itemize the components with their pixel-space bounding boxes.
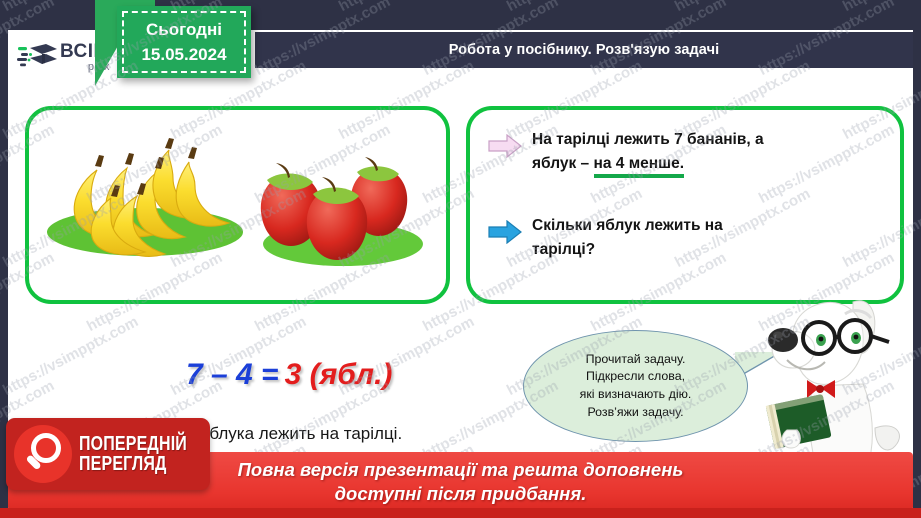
bubble-line-4: Розв’яжи задачу. [587, 404, 683, 422]
speech-bubble: Прочитай задачу. Підкресли слова, які ви… [523, 330, 748, 442]
bubble-line-3: які визначають дію. [580, 386, 692, 404]
preview-badge[interactable]: ПОПЕРЕДНІЙ ПЕРЕГЛЯД [6, 418, 210, 490]
apple-icon [251, 150, 436, 280]
task-1-line1: На тарілці лежить 7 бананів, а [532, 131, 764, 148]
task-text-panel: На тарілці лежить 7 бананів, а яблук – н… [466, 106, 904, 304]
magnifier-icon [14, 425, 72, 483]
bubble-line-1: Прочитай задачу. [586, 351, 686, 369]
apple-group [251, 150, 436, 280]
page-title: Робота у посібнику. Розв'язую задачі [449, 42, 720, 58]
preview-badge-line2: ПЕРЕГЛЯД [79, 454, 187, 474]
equation-right: 3 (ябл.) [285, 358, 393, 391]
task-2-line1: Скільки яблук лежить на [532, 217, 723, 234]
solution-equation: 7 – 4 =3 (ябл.) [186, 358, 392, 392]
banana-group [39, 136, 254, 276]
presentation-slide: Робота у посібнику. Розв'язую задачі ВСІ… [0, 0, 921, 518]
dog-teacher-character [757, 288, 912, 468]
banana-icon [39, 136, 254, 276]
preview-badge-line1: ПОПЕРЕДНІЙ [79, 434, 187, 454]
task-1-line2-underlined: на 4 менше. [594, 152, 685, 176]
graduation-cap-icon [16, 41, 58, 75]
task-item-2: Скільки яблук лежить на тарілці? [488, 214, 723, 262]
arrow-right-blue-icon [488, 220, 522, 262]
banner-line-1: Повна версія презентації та решта доповн… [238, 458, 684, 482]
task-item-1: На тарілці лежить 7 бананів, а яблук – н… [488, 128, 764, 176]
today-date-badge: Сьогодні 15.05.2024 [117, 6, 251, 78]
bubble-line-2: Підкресли слова, [586, 368, 685, 386]
equation-left: 7 – 4 = [186, 358, 279, 391]
solution-answer: 3 яблука лежить на тарілці. [186, 424, 402, 444]
date-badge-label: Сьогодні [146, 17, 222, 43]
banner-line-2: доступні після придбання. [335, 482, 587, 506]
task-2-line2: тарілці? [532, 241, 595, 258]
arrow-right-pink-icon [488, 134, 522, 176]
preview-badge-text: ПОПЕРЕДНІЙ ПЕРЕГЛЯД [79, 434, 210, 475]
fruit-illustration-panel [25, 106, 450, 304]
bottom-red-strip [0, 508, 921, 518]
task-2-text: Скільки яблук лежить на тарілці? [532, 214, 723, 262]
date-badge-value: 15.05.2024 [141, 42, 226, 68]
slide-header-bar: Робота у посібнику. Розв'язую задачі [255, 32, 913, 68]
task-1-line2-prefix: яблук – [532, 155, 594, 172]
task-1-text: На тарілці лежить 7 бананів, а яблук – н… [532, 128, 764, 176]
